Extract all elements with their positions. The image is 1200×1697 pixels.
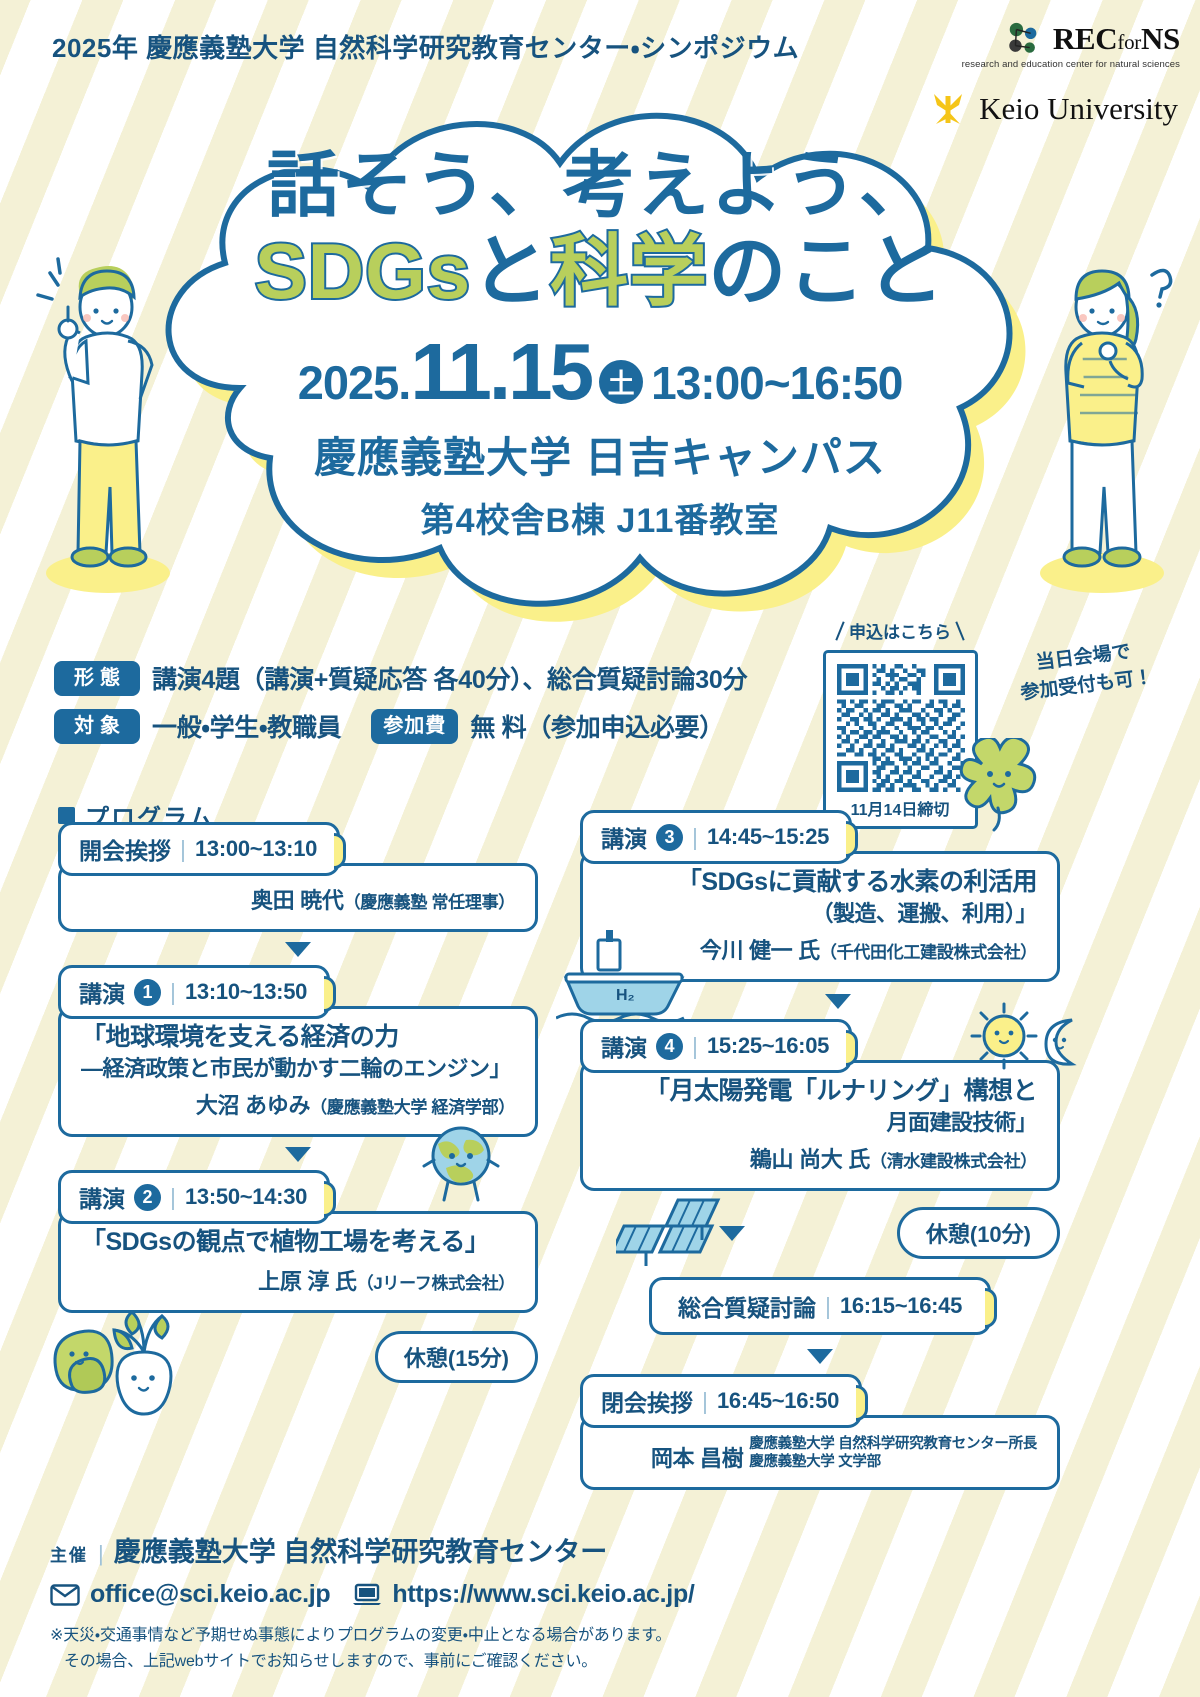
event-date-row: 2025. 11.15 土 13:00~16:50: [298, 336, 903, 410]
organizer-label: 主催: [50, 1541, 88, 1566]
talk4-header-pill: 講演 4 | 15:25~16:05: [580, 1019, 852, 1073]
discussion-label: 総合質疑討論: [678, 1289, 816, 1323]
closing-aff-line1: 慶應義塾大学 自然科学研究教育センター所長: [749, 1435, 1037, 1453]
closing-label: 閉会挨拶: [601, 1384, 693, 1418]
divider-bar: |: [825, 1293, 831, 1320]
recns-wordmark: RECforNS: [1053, 21, 1180, 57]
talk1-speaker: 大沼 あゆみ（慶應義塾大学 経済学部）: [81, 1088, 515, 1120]
qr-code-icon[interactable]: [837, 664, 965, 792]
talk2-title-line1: 「SDGsの観点で植物工場を考える」: [81, 1228, 489, 1256]
person-pointing-icon: [28, 255, 188, 600]
solar-panel-icon: [616, 1192, 746, 1272]
format-value: 講演4題（講演+質疑応答 各40分）、総合質疑討論30分: [152, 660, 747, 696]
moon-icon: [1038, 1016, 1090, 1068]
talk4-time: 15:25~16:05: [707, 1033, 829, 1059]
talk1-title-line2: ―経済政策と市民が動かす二輪のエンジン」: [81, 1054, 515, 1083]
solar-panels-illustration: [616, 1192, 746, 1272]
contact-email[interactable]: office@sci.keio.ac.jp: [90, 1580, 330, 1609]
talk4-number-badge: 4: [656, 1033, 683, 1060]
poster-root: 2025年 慶應義塾大学 自然科学研究教育センター・シンポジウム RECforN…: [0, 0, 1200, 1697]
divider-bar: |: [692, 824, 698, 851]
closing-speaker-name: 岡本 昌樹: [651, 1446, 744, 1471]
talk2-number-badge: 2: [134, 1184, 161, 1211]
talk2-title: 「SDGsの観点で植物工場を考える」: [81, 1226, 515, 1259]
organizer-name: 慶應義塾大学 自然科学研究教育センター: [114, 1530, 608, 1569]
talk2-speaker: 上原 淳 氏（Jリーフ株式会社）: [81, 1264, 515, 1296]
talk1-speaker-affiliation: （慶應義塾大学 経済学部）: [310, 1098, 515, 1117]
talk4-body-card: 「月太陽発電「ルナリング」構想と 月面建設技術」 鵜山 尚大 氏（清水建設株式会…: [580, 1060, 1060, 1191]
ship-h2-label: H₂: [616, 987, 635, 1004]
talk4-speaker-name: 鵜山 尚大 氏: [750, 1147, 870, 1172]
talk2-label: 講演: [79, 1180, 125, 1214]
closing-speaker-affiliation: 慶應義塾大学 自然科学研究教育センター所長 慶應義塾大学 文学部: [749, 1435, 1037, 1471]
hero-title-sdgs: SDGs: [255, 232, 471, 310]
talk3-header-pill: 講演 3 | 14:45~15:25: [580, 810, 852, 864]
recns-for: for: [1117, 30, 1141, 54]
program-item-opening: 開会挨拶 | 13:00~13:10 奥田 暁代（慶應義塾 常任理事）: [58, 822, 538, 932]
application-lead-row: 申込はこちら: [790, 618, 1010, 643]
opening-speaker-name: 奥田 暁代: [251, 888, 344, 913]
fee-value: 無 料（参加申込必要）: [470, 708, 724, 744]
break-10min-pill: 休憩(10分): [897, 1207, 1060, 1259]
program-column-right: 講演 3 | 14:45~15:25 「SDGsに貢献する水素の利活用 （製造、…: [580, 810, 1060, 1490]
person-thinking-icon: [1022, 255, 1182, 600]
target-value: 一般・学生・教職員: [152, 708, 341, 744]
vegetable-characters-icon: [46, 1300, 206, 1430]
flow-arrow-icon: [285, 1147, 311, 1162]
moon-illustration: [1038, 1016, 1090, 1068]
hero-title-line2: SDGsと科学のこと: [255, 232, 945, 310]
earth-mascot-illustration: [418, 1120, 504, 1206]
flow-arrow-icon: [825, 994, 851, 1009]
talk3-title-line1: 「SDGsに貢献する水素の利活用: [677, 868, 1037, 896]
opening-header-pill: 開会挨拶 | 13:00~13:10: [58, 822, 340, 876]
footer-disclaimer: ※天災・交通事情など予期せぬ事態によりプログラムの変更・中止となる場合があります…: [50, 1623, 750, 1674]
info-row-target-fee: 対象 一般・学生・教職員 参加費 無 料（参加申込必要）: [54, 708, 794, 744]
program-item-closing: 閉会挨拶 | 16:45~16:50 岡本 昌樹 慶應義塾大学 自然科学研究教育…: [580, 1374, 1060, 1490]
format-label-pill: 形態: [54, 661, 140, 696]
disclaimer-line2: その場合、上記webサイトでお知らせしますので、事前にご確認ください。: [50, 1649, 750, 1675]
program-item-discussion: 総合質疑討論 | 16:15~16:45: [580, 1277, 1060, 1335]
mail-icon: [50, 1584, 80, 1606]
poster-footer: 主催 | 慶應義塾大学 自然科学研究教育センター office@sci.keio…: [50, 1530, 750, 1674]
talk4-label: 講演: [601, 1029, 647, 1063]
talk1-speaker-name: 大沼 あゆみ: [196, 1093, 310, 1118]
event-year: 2025.: [298, 355, 411, 410]
divider-bar: |: [180, 836, 186, 863]
event-dayofweek-badge: 土: [599, 360, 643, 404]
vegetable-mascots-illustration: [46, 1300, 206, 1430]
talk2-time: 13:50~14:30: [185, 1184, 307, 1210]
discussion-pill: 総合質疑討論 | 16:15~16:45: [649, 1277, 991, 1335]
opening-speaker: 奥田 暁代（慶應義塾 常任理事）: [81, 883, 515, 915]
earth-character-icon: [418, 1120, 504, 1206]
flow-arrow-icon: [807, 1349, 833, 1364]
venue-line1: 慶應義塾大学 日吉キャンパス: [314, 424, 886, 485]
venue-line2: 第4校舎B棟 J11番教室: [421, 493, 780, 542]
closing-time: 16:45~16:50: [717, 1388, 839, 1414]
talk1-title: 「地球環境を支える経済の力 ―経済政策と市民が動かす二輪のエンジン」: [81, 1021, 515, 1083]
talk3-speaker-name: 今川 健一 氏: [700, 938, 820, 963]
talk2-body-card: 「SDGsの観点で植物工場を考える」 上原 淳 氏（Jリーフ株式会社）: [58, 1211, 538, 1313]
contact-website[interactable]: https://www.sci.keio.ac.jp/: [392, 1580, 694, 1609]
talk1-title-line1: 「地球環境を支える経済の力: [81, 1023, 399, 1051]
slash-right-icon: [955, 621, 964, 640]
opening-time: 13:00~13:10: [195, 836, 317, 862]
hero-title-line1: 話そう、考えよう、: [267, 150, 933, 222]
discussion-time: 16:15~16:45: [840, 1293, 962, 1319]
target-label-pill: 対象: [54, 709, 140, 744]
event-info-block: 形態 講演4題（講演+質疑応答 各40分）、総合質疑討論30分 対象 一般・学生…: [54, 660, 794, 756]
fee-label-pill: 参加費: [371, 709, 458, 744]
ship-icon: H₂: [556, 930, 691, 1025]
talk3-time: 14:45~15:25: [707, 824, 829, 850]
logo-rec-for-ns: RECforNS research and education center f…: [962, 20, 1180, 70]
recns-rec: REC: [1053, 21, 1118, 56]
info-row-format: 形態 講演4題（講演+質疑応答 各40分）、総合質疑討論30分: [54, 660, 794, 696]
hydrogen-ship-illustration: H₂: [556, 930, 691, 1025]
organizer-divider: |: [98, 1541, 104, 1567]
application-qr-area: 申込はこちら: [790, 618, 1010, 829]
opening-speaker-affiliation: （慶應義塾 常任理事）: [344, 893, 515, 912]
closing-header-pill: 閉会挨拶 | 16:45~16:50: [580, 1374, 862, 1428]
talk1-number-badge: 1: [134, 979, 161, 1006]
hero-title-kagaku: 科学: [550, 232, 708, 310]
talk2-header-pill: 講演 2 | 13:50~14:30: [58, 1170, 330, 1224]
sun-illustration: [968, 1000, 1040, 1072]
slash-left-icon: [835, 621, 844, 640]
talk2-speaker-name: 上原 淳 氏: [258, 1269, 356, 1294]
character-illustration-left: [28, 255, 188, 600]
program-column-left: 開会挨拶 | 13:00~13:10 奥田 暁代（慶應義塾 常任理事） 講演: [58, 822, 538, 1383]
character-illustration-right: [1022, 255, 1182, 600]
talk3-number-badge: 3: [656, 824, 683, 851]
talk4-title-line2: 月面建設技術」: [603, 1108, 1037, 1137]
talk1-time: 13:10~13:50: [185, 979, 307, 1005]
recns-ns: NS: [1141, 21, 1180, 56]
divider-bar: |: [170, 1184, 176, 1211]
disclaimer-line1: ※天災・交通事情など予期せぬ事態によりプログラムの変更・中止となる場合があります…: [50, 1627, 671, 1644]
hero-title-to: と: [471, 232, 550, 310]
organizer-row: 主催 | 慶應義塾大学 自然科学研究教育センター: [50, 1530, 750, 1569]
talk3-title: 「SDGsに貢献する水素の利活用 （製造、運搬、利用）」: [603, 866, 1037, 928]
divider-bar: |: [170, 979, 176, 1006]
sun-icon: [968, 1000, 1040, 1072]
talk2-speaker-affiliation: （Jリーフ株式会社）: [357, 1274, 515, 1293]
event-monthday: 11.15: [410, 336, 591, 408]
event-time: 13:00~16:50: [651, 356, 902, 410]
program-item-talk1: 講演 1 | 13:10~13:50 「地球環境を支える経済の力 ―経済政策と市…: [58, 965, 538, 1137]
application-lead-text: 申込はこちら: [849, 618, 951, 643]
break-15min-pill: 休憩(15分): [375, 1331, 538, 1383]
talk1-body-card: 「地球環境を支える経済の力 ―経済政策と市民が動かす二輪のエンジン」 大沼 あゆ…: [58, 1006, 538, 1137]
talk1-label: 講演: [79, 975, 125, 1009]
talk3-label: 講演: [601, 820, 647, 854]
header-title: 2025年 慶應義塾大学 自然科学研究教育センター・シンポジウム: [52, 28, 799, 65]
talk4-title-line1: 「月太陽発電「ルナリング」構想と: [645, 1077, 1037, 1105]
divider-bar: |: [692, 1033, 698, 1060]
laptop-icon: [352, 1583, 382, 1607]
recns-tagline: research and education center for natura…: [962, 59, 1180, 70]
opening-label: 開会挨拶: [79, 832, 171, 866]
divider-bar: |: [702, 1388, 708, 1415]
talk4-speaker-affiliation: （清水建設株式会社）: [870, 1152, 1037, 1171]
hero-title-nokoto: のこと: [708, 232, 945, 310]
talk3-title-line2: （製造、運搬、利用）」: [603, 899, 1037, 928]
talk1-header-pill: 講演 1 | 13:10~13:50: [58, 965, 330, 1019]
recns-molecule-icon: [1005, 20, 1043, 58]
talk4-title: 「月太陽発電「ルナリング」構想と 月面建設技術」: [603, 1075, 1037, 1137]
closing-aff-line2: 慶應義塾大学 文学部: [749, 1453, 1037, 1471]
talk4-speaker: 鵜山 尚大 氏（清水建設株式会社）: [603, 1142, 1037, 1174]
hero-content: 話そう、考えよう、 SDGsと科学のこと 2025. 11.15 土 13:00…: [90, 88, 1110, 648]
flow-arrow-icon: [285, 942, 311, 957]
talk3-speaker-affiliation: （千代田化工建設株式会社）: [820, 943, 1037, 962]
closing-speaker: 岡本 昌樹 慶應義塾大学 自然科学研究教育センター所長 慶應義塾大学 文学部: [603, 1435, 1037, 1473]
contact-row: office@sci.keio.ac.jp https://www.sci.ke…: [50, 1580, 750, 1609]
